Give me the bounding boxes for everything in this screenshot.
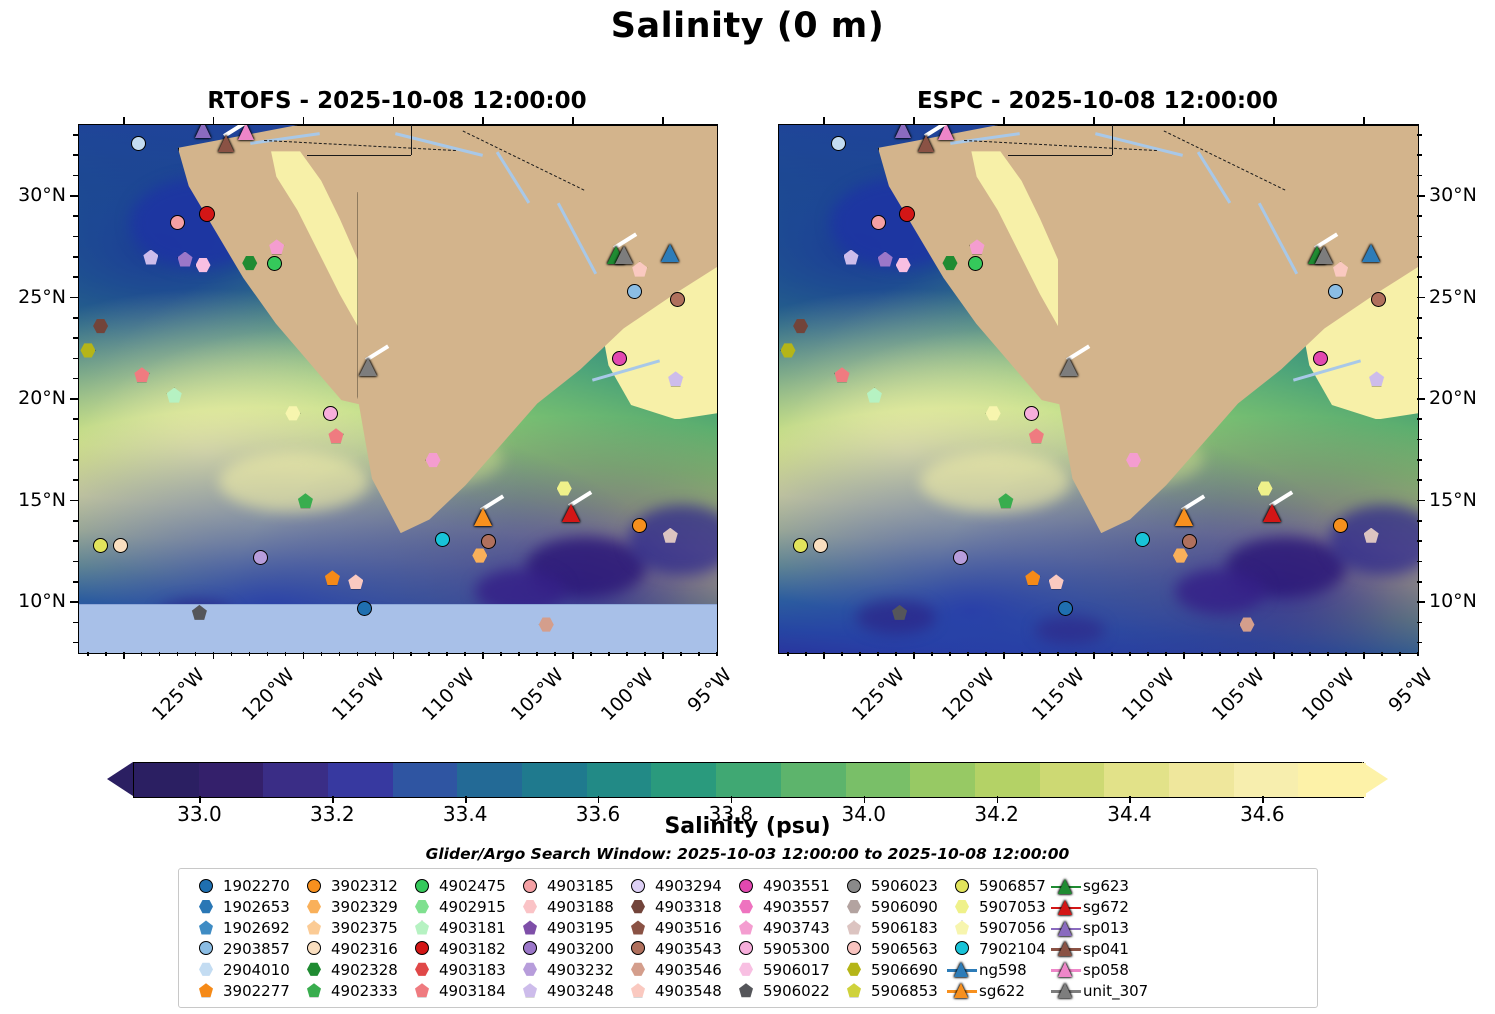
colorbar-segment	[1169, 763, 1237, 797]
x-tick-label: 125°W	[848, 664, 909, 725]
x-minor-tick	[1021, 652, 1023, 656]
platform-marker[interactable]	[968, 256, 983, 271]
platform-marker[interactable]	[131, 136, 146, 151]
legend-item[interactable]: 4903318	[623, 897, 731, 918]
x-tick	[662, 652, 664, 659]
legend-item[interactable]: 5906022	[731, 980, 839, 1001]
x-top-tick	[1363, 117, 1365, 124]
legend-marker-circle-icon	[731, 877, 761, 896]
x-minor-tick	[285, 652, 287, 656]
legend-item[interactable]: 3902375	[299, 918, 407, 939]
legend-label: 4903548	[653, 982, 722, 1000]
legend-marker-tri-icon	[1051, 981, 1081, 1000]
x-tick	[913, 652, 915, 659]
y-minor-tick	[1417, 540, 1422, 542]
platform-marker[interactable]	[267, 256, 282, 271]
x-tick	[1003, 652, 1005, 659]
map-panel-rtofs[interactable]	[78, 124, 718, 654]
legend-label: sg672	[1081, 898, 1129, 916]
platform-marker[interactable]	[474, 508, 492, 526]
legend-item[interactable]: 4903183	[407, 960, 515, 981]
y-minor-tick	[73, 175, 78, 177]
x-tick-label: 115°W	[328, 664, 389, 725]
platform-marker[interactable]	[113, 538, 128, 553]
legend-item[interactable]: 4903516	[623, 918, 731, 939]
legend-item[interactable]: 4903294	[623, 876, 731, 897]
colorbar-tick-label: 33.2	[310, 802, 355, 826]
legend-marker-tri-icon	[947, 960, 977, 979]
legend-label: 3902329	[329, 898, 398, 916]
colorbar-tick-label: 33.6	[576, 802, 621, 826]
legend-item[interactable]: 4902328	[299, 960, 407, 981]
platform-marker[interactable]	[1175, 508, 1193, 526]
legend-label: 4902333	[329, 982, 398, 1000]
legend-item[interactable]: sp058	[1051, 960, 1163, 981]
x-top-tick	[213, 117, 215, 124]
colorbar-segment	[199, 763, 267, 797]
x-tick	[1363, 652, 1365, 659]
y-minor-tick	[73, 561, 78, 563]
y-minor-tick	[73, 317, 78, 319]
y-minor-tick	[73, 378, 78, 380]
search-window-caption: Glider/Argo Search Window: 2025-10-03 12…	[0, 845, 1495, 863]
x-tick	[823, 652, 825, 659]
legend-marker-hex-icon	[191, 960, 221, 979]
platform-marker[interactable]	[1135, 532, 1150, 547]
colorbar-segment	[263, 763, 331, 797]
y-tick-label: 25°N	[0, 286, 66, 308]
legend-label: 5906853	[869, 982, 938, 1000]
platform-marker[interactable]	[359, 358, 377, 376]
legend-item[interactable]: 3902277	[191, 980, 299, 1001]
legend-label: 5906690	[869, 961, 938, 979]
x-minor-tick	[1237, 652, 1239, 656]
y-tick-label: 30°N	[1429, 184, 1495, 206]
legend-marker-pent-icon	[623, 981, 653, 1000]
x-tick-label: 100°W	[597, 664, 658, 725]
x-minor-tick	[554, 652, 556, 656]
platform-marker[interactable]	[1328, 284, 1343, 299]
y-tick	[70, 195, 78, 197]
legend-marker-circle-icon	[839, 939, 869, 958]
platform-marker[interactable]	[1362, 244, 1380, 262]
legend-label: 3902375	[329, 919, 398, 937]
y-minor-tick	[1417, 622, 1422, 624]
platform-marker[interactable]	[670, 292, 685, 307]
legend-item[interactable]: sp013	[1051, 918, 1163, 939]
legend-marker-circle-icon	[623, 877, 653, 896]
x-minor-tick	[87, 652, 89, 656]
legend-marker-hex-icon	[407, 898, 437, 917]
y-minor-tick	[1417, 215, 1422, 217]
legend-marker-hex-icon	[839, 898, 869, 917]
colorbar-extend-low	[107, 762, 133, 796]
x-top-tick	[823, 117, 825, 124]
y-tick	[1417, 195, 1425, 197]
y-minor-tick	[73, 418, 78, 420]
legend-item[interactable]: 4903551	[731, 876, 839, 897]
y-minor-tick	[73, 642, 78, 644]
legend-item[interactable]: 4903548	[623, 980, 731, 1001]
platform-marker[interactable]	[562, 504, 580, 522]
x-minor-tick	[877, 652, 879, 656]
platform-marker[interactable]	[1371, 292, 1386, 307]
x-minor-tick	[949, 652, 951, 656]
legend-marker-circle-icon	[407, 939, 437, 958]
colorbar-tick-label: 34.4	[1107, 802, 1152, 826]
x-minor-tick	[159, 652, 161, 656]
x-top-tick	[482, 117, 484, 124]
platform-marker[interactable]	[1333, 518, 1348, 533]
platform-marker[interactable]	[93, 538, 108, 553]
legend-item[interactable]: ng598	[947, 960, 1051, 981]
platform-marker[interactable]	[218, 135, 234, 152]
legend-item[interactable]: 4903184	[407, 980, 515, 1001]
x-minor-tick	[464, 652, 466, 656]
x-tick	[123, 652, 125, 659]
platform-marker[interactable]	[435, 532, 450, 547]
y-tick-label: 20°N	[0, 387, 66, 409]
legend-label: 4903181	[437, 919, 506, 937]
y-minor-tick	[1417, 561, 1422, 563]
legend-item[interactable]: sg622	[947, 980, 1051, 1001]
legend-label: 4903248	[545, 982, 614, 1000]
legend-label: 4903183	[437, 961, 506, 979]
state-border	[1008, 155, 1112, 156]
platform-legend[interactable]: 1902270190265319026922903857290401039022…	[178, 868, 1318, 1008]
platform-marker[interactable]	[1263, 504, 1281, 522]
legend-marker-hex-icon	[299, 898, 329, 917]
colorbar-segment	[781, 763, 849, 797]
x-tick	[1093, 652, 1095, 659]
legend-marker-tri-icon	[1051, 877, 1081, 896]
x-minor-tick	[931, 652, 933, 656]
y-minor-tick	[1417, 459, 1422, 461]
state-border	[1112, 125, 1113, 155]
legend-item[interactable]: 4903557	[731, 897, 839, 918]
y-tick	[70, 500, 78, 502]
x-top-tick	[393, 117, 395, 124]
legend-marker-tri-icon	[1051, 939, 1081, 958]
legend-item[interactable]: 4903743	[731, 918, 839, 939]
legend-marker-circle-icon	[947, 939, 977, 958]
platform-marker[interactable]	[895, 125, 911, 138]
x-minor-tick	[1165, 652, 1167, 656]
legend-marker-circle-icon	[839, 877, 869, 896]
panel-title-espc: ESPC - 2025-10-08 12:00:00	[778, 88, 1417, 114]
y-tick-label: 25°N	[1429, 286, 1495, 308]
platform-marker[interactable]	[1024, 406, 1039, 421]
x-minor-tick	[1291, 652, 1293, 656]
x-minor-tick	[985, 652, 987, 656]
legend-item[interactable]: 5906563	[839, 939, 947, 960]
legend-label: unit_307	[1081, 982, 1148, 1000]
legend-item[interactable]: 4902915	[407, 897, 515, 918]
legend-label: sp058	[1081, 961, 1129, 979]
legend-label: 4902915	[437, 898, 506, 916]
platform-marker[interactable]	[323, 406, 338, 421]
legend-label: 1902653	[221, 898, 290, 916]
x-top-tick	[662, 117, 664, 124]
x-minor-tick	[1327, 652, 1329, 656]
legend-item[interactable]: 4903248	[515, 980, 623, 1001]
panel-title-rtofs: RTOFS - 2025-10-08 12:00:00	[78, 88, 716, 114]
legend-label: 5906023	[869, 877, 938, 895]
x-minor-tick	[177, 652, 179, 656]
legend-marker-hex-icon	[623, 960, 653, 979]
legend-item[interactable]: 3902329	[299, 897, 407, 918]
platform-marker[interactable]	[199, 206, 215, 222]
legend-item[interactable]: 4903185	[515, 876, 623, 897]
legend-item[interactable]: sp041	[1051, 939, 1163, 960]
legend-item[interactable]: sg623	[1051, 876, 1163, 897]
y-minor-tick	[73, 154, 78, 156]
platform-marker[interactable]	[793, 538, 808, 553]
legend-item[interactable]: 4902316	[299, 939, 407, 960]
colorbar-segment	[1298, 763, 1366, 797]
legend-item[interactable]: 4903181	[407, 918, 515, 939]
x-tick-label: 120°W	[238, 664, 299, 725]
legend-item[interactable]: 4903182	[407, 939, 515, 960]
colorbar-gradient	[133, 762, 1364, 798]
x-tick-label: 115°W	[1028, 664, 1089, 725]
legend-item[interactable]: 5906023	[839, 876, 947, 897]
legend-item[interactable]: 4902333	[299, 980, 407, 1001]
legend-item[interactable]: 1902692	[191, 918, 299, 939]
legend-label: 4902316	[329, 940, 398, 958]
platform-marker[interactable]	[831, 136, 846, 151]
x-minor-tick	[1201, 652, 1203, 656]
colorbar-segment	[522, 763, 590, 797]
x-minor-tick	[608, 652, 610, 656]
legend-item[interactable]: 4903200	[515, 939, 623, 960]
x-minor-tick	[321, 652, 323, 656]
legend-marker-pent-icon	[191, 919, 221, 938]
platform-marker[interactable]	[627, 284, 642, 299]
y-minor-tick	[73, 215, 78, 217]
platform-marker[interactable]	[1058, 601, 1073, 616]
platform-marker[interactable]	[813, 538, 828, 553]
x-minor-tick	[446, 652, 448, 656]
colorbar-segment	[134, 763, 202, 797]
x-tick	[1273, 652, 1275, 659]
legend-label: 7902104	[977, 940, 1046, 958]
legend-item[interactable]: 5907053	[947, 897, 1051, 918]
legend-item[interactable]: 2903857	[191, 939, 299, 960]
legend-item[interactable]: 1902653	[191, 897, 299, 918]
y-minor-tick	[1417, 581, 1422, 583]
legend-marker-tri-icon	[1051, 960, 1081, 979]
legend-label: 1902692	[221, 919, 290, 937]
legend-marker-pent-icon	[947, 919, 977, 938]
legend-column: 4903185490318849031954903200490323249032…	[515, 876, 623, 1001]
x-minor-tick	[841, 652, 843, 656]
legend-item[interactable]: 5906857	[947, 876, 1051, 897]
y-minor-tick	[1417, 378, 1422, 380]
x-minor-tick	[644, 652, 646, 656]
y-minor-tick	[1417, 358, 1422, 360]
legend-item[interactable]: 4902475	[407, 876, 515, 897]
legend-marker-hex-icon	[299, 960, 329, 979]
legend-marker-hex-icon	[407, 960, 437, 979]
x-minor-tick	[1219, 652, 1221, 656]
y-minor-tick	[1417, 520, 1422, 522]
x-minor-tick	[375, 652, 377, 656]
platform-marker[interactable]	[661, 244, 679, 262]
legend-label: sp013	[1081, 919, 1129, 937]
legend-item[interactable]: 2904010	[191, 960, 299, 981]
y-tick	[1417, 601, 1425, 603]
x-minor-tick	[1111, 652, 1113, 656]
x-tick-label: 110°W	[417, 664, 478, 725]
legend-marker-pent-icon	[407, 981, 437, 1000]
x-tick	[572, 652, 574, 659]
legend-marker-pent-icon	[515, 981, 545, 1000]
x-tick	[1183, 652, 1185, 659]
legend-marker-tri-icon	[1051, 898, 1081, 917]
y-minor-tick	[1417, 439, 1422, 441]
legend-label: 4903543	[653, 940, 722, 958]
legend-item[interactable]: 4903188	[515, 897, 623, 918]
y-tick	[70, 601, 78, 603]
y-minor-tick	[1417, 418, 1422, 420]
x-tick	[303, 652, 305, 659]
y-tick	[1417, 398, 1425, 400]
legend-label: 2904010	[221, 961, 290, 979]
x-minor-tick	[428, 652, 430, 656]
legend-label: 4903184	[437, 982, 506, 1000]
platform-marker[interactable]	[918, 135, 934, 152]
legend-marker-hex-icon	[839, 960, 869, 979]
colorbar[interactable]	[107, 762, 1388, 796]
legend-item[interactable]: 4903546	[623, 960, 731, 981]
x-minor-tick	[249, 652, 251, 656]
legend-item[interactable]: 4903195	[515, 918, 623, 939]
x-minor-tick	[1075, 652, 1077, 656]
platform-marker[interactable]	[1315, 246, 1333, 264]
legend-item[interactable]: 4903543	[623, 939, 731, 960]
x-minor-tick	[195, 652, 197, 656]
colorbar-segment	[587, 763, 655, 797]
x-minor-tick	[1417, 652, 1419, 656]
y-minor-tick	[1417, 337, 1422, 339]
legend-item[interactable]: 5906853	[839, 980, 947, 1001]
y-tick	[70, 297, 78, 299]
legend-marker-circle-icon	[299, 939, 329, 958]
legend-item[interactable]: 5906690	[839, 960, 947, 981]
legend-item[interactable]: 4903232	[515, 960, 623, 981]
legend-marker-circle-icon	[191, 939, 221, 958]
legend-label: 4903200	[545, 940, 614, 958]
x-top-tick	[913, 117, 915, 124]
x-tick-label: 100°W	[1298, 664, 1359, 725]
legend-label: 4902475	[437, 877, 506, 895]
legend-marker-hex-icon	[191, 898, 221, 917]
salinity-feature	[920, 452, 1070, 512]
platform-marker[interactable]	[632, 518, 647, 533]
x-minor-tick	[1147, 652, 1149, 656]
y-minor-tick	[1417, 642, 1422, 644]
y-tick	[70, 398, 78, 400]
legend-label: 4903557	[761, 898, 830, 916]
legend-item[interactable]: sg672	[1051, 897, 1163, 918]
x-minor-tick	[590, 652, 592, 656]
legend-marker-hex-icon	[731, 960, 761, 979]
platform-marker[interactable]	[195, 125, 211, 138]
platform-marker[interactable]	[1060, 358, 1078, 376]
y-tick	[1417, 297, 1425, 299]
x-minor-tick	[626, 652, 628, 656]
legend-label: 4902328	[329, 961, 398, 979]
platform-marker[interactable]	[615, 246, 633, 264]
legend-marker-circle-icon	[191, 877, 221, 896]
no-data-band	[79, 604, 717, 653]
y-tick	[1417, 500, 1425, 502]
legend-marker-hex-icon	[515, 960, 545, 979]
legend-marker-hex-icon	[731, 898, 761, 917]
x-top-tick	[1183, 117, 1185, 124]
colorbar-segment	[651, 763, 719, 797]
y-minor-tick	[1417, 317, 1422, 319]
legend-item[interactable]: 5906017	[731, 960, 839, 981]
legend-item[interactable]: 5906090	[839, 897, 947, 918]
y-tick-label: 15°N	[0, 489, 66, 511]
legend-item[interactable]: 5906183	[839, 918, 947, 939]
y-minor-tick	[73, 622, 78, 624]
platform-marker[interactable]	[357, 601, 372, 616]
x-top-tick	[123, 117, 125, 124]
legend-item[interactable]: 1902270	[191, 876, 299, 897]
legend-item[interactable]: 5907056	[947, 918, 1051, 939]
x-minor-tick	[895, 652, 897, 656]
x-minor-tick	[410, 652, 412, 656]
legend-marker-hex-icon	[515, 898, 545, 917]
x-top-tick	[1003, 117, 1005, 124]
legend-column: 1902270190265319026922903857290401039022…	[191, 876, 299, 1001]
platform-marker[interactable]	[481, 534, 496, 549]
x-minor-tick	[1057, 652, 1059, 656]
salinity-feature	[1175, 569, 1265, 614]
platform-marker[interactable]	[871, 215, 886, 230]
legend-marker-circle-icon	[623, 939, 653, 958]
legend-label: sp041	[1081, 940, 1129, 958]
platform-marker[interactable]	[1182, 534, 1197, 549]
colorbar-tick-label: 33.0	[177, 802, 222, 826]
legend-marker-circle-icon	[299, 877, 329, 896]
legend-item[interactable]: 7902104	[947, 939, 1051, 960]
x-top-tick	[1273, 117, 1275, 124]
legend-marker-pent-icon	[839, 981, 869, 1000]
legend-item[interactable]: 3902312	[299, 876, 407, 897]
platform-marker[interactable]	[253, 550, 268, 565]
legend-label: 1902270	[221, 877, 290, 895]
y-minor-tick	[1417, 256, 1422, 258]
x-minor-tick	[339, 652, 341, 656]
y-minor-tick	[73, 337, 78, 339]
legend-label: 5906017	[761, 961, 830, 979]
y-minor-tick	[73, 540, 78, 542]
x-tick-label: 120°W	[938, 664, 999, 725]
legend-marker-pent-icon	[731, 919, 761, 938]
x-tick-label: 110°W	[1118, 664, 1179, 725]
legend-label: 3902277	[221, 982, 290, 1000]
legend-label: 5907056	[977, 919, 1046, 937]
y-tick-label: 10°N	[0, 590, 66, 612]
legend-label: 4903182	[437, 940, 506, 958]
legend-item[interactable]: unit_307	[1051, 980, 1163, 1001]
legend-item[interactable]: 5905300	[731, 939, 839, 960]
map-panel-espc[interactable]	[778, 124, 1419, 654]
